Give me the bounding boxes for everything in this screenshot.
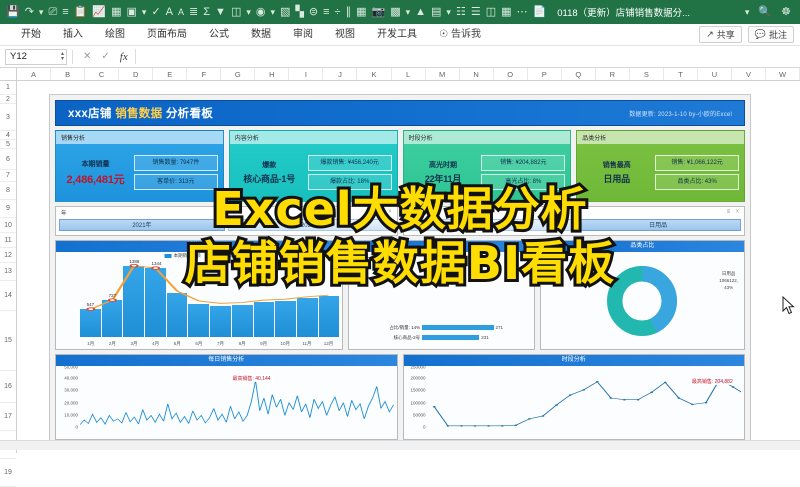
dashboard-title-bar: xxx店铺 销售数据 分析看板 数据更新: 2023-1-10 by-小欧的Ex… — [55, 100, 745, 126]
column-header-b[interactable]: B — [51, 68, 85, 80]
max-annotation: 最高销售: 40,144 — [230, 375, 272, 382]
y-axis: 0 10,000 20,000 30,000 40,000 50,000 — [56, 366, 80, 427]
filter-icon[interactable]: ▼ — [215, 7, 226, 18]
column-header-i[interactable]: I — [289, 68, 323, 80]
kpi-detail-2: 客单价: 313元 — [134, 174, 218, 190]
x-label: 10月 — [274, 338, 296, 349]
freeze-icon[interactable]: ∥ — [346, 7, 352, 18]
column-header-c[interactable]: C — [85, 68, 119, 80]
select-all-corner[interactable] — [0, 68, 17, 80]
row-header-3[interactable]: 3 — [0, 104, 16, 131]
rank-list: 占比/销量: 14% 271 核心商品-2号 231 — [352, 255, 531, 346]
plot-area: 547 727 1388 1344 — [80, 255, 339, 337]
sales-trend-chart[interactable]: 本期销售金额 去年同期 — [56, 252, 342, 349]
dropdown-icon[interactable]: ▾ — [745, 8, 750, 17]
sheet-canvas[interactable]: xxx店铺 销售数据 分析看板 数据更新: 2023-1-10 by-小欧的Ex… — [17, 81, 800, 453]
panel-title: 商品分析 — [349, 241, 534, 252]
cell-style-icon[interactable]: ▩ — [390, 7, 400, 18]
kpi-label: 高光时期 — [429, 160, 457, 170]
category-share-chart[interactable]: 日用品 1066122, 43% — [541, 252, 744, 349]
text-box-icon[interactable]: ▤ — [431, 7, 441, 18]
ribbon-tab-page-layout[interactable]: 页面布局 — [136, 24, 198, 46]
share-label: 共享 — [717, 28, 735, 41]
slicer-items: 2021年 2022年 — [59, 219, 394, 231]
format-painter-icon[interactable]: ✓ — [151, 7, 160, 18]
chart-icon[interactable]: 📈 — [92, 7, 106, 18]
kpi-detail-2: 爆款占比: 18% — [308, 174, 392, 190]
insert-chart-icon[interactable]: ▧ — [280, 7, 290, 18]
share-button[interactable]: ↗ 共享 — [699, 26, 742, 43]
panel-title: 时段分析 — [404, 355, 745, 366]
kpi-body: 本期销量 2,486,481元 销售数量: 7947件 客单价: 313元 — [56, 144, 223, 201]
y-tick: 0 — [75, 425, 78, 430]
kpi-card-category: 品类分析 销售最高 日用品 销售: ¥1,066,122元 品类占比: 43% — [576, 130, 745, 202]
column-header-g[interactable]: G — [221, 68, 255, 80]
x-axis-labels: 1月 2月 3月 4月 5月 6月 7月 8月 9月 10月 11月 12月 — [80, 338, 339, 349]
copy-icon[interactable]: 📋 — [74, 7, 88, 18]
paste-icon[interactable]: ⎚ — [48, 7, 57, 18]
slicer-controls[interactable]: ≡ ☓ — [379, 208, 393, 215]
row-header-6[interactable]: 6 — [0, 149, 16, 170]
y-tick: 40,000 — [64, 376, 78, 381]
rank-note: 占比/销量: 14% — [352, 325, 420, 331]
donut-label-value: 1066122, — [719, 278, 738, 285]
status-bar — [0, 440, 800, 450]
comment-icon: 💬 — [755, 29, 766, 40]
name-box-spinner-icon[interactable]: ▴▾ — [61, 52, 66, 62]
dashboard-title-prefix: xxx店铺 — [68, 108, 115, 120]
kpi-detail-1: 销售: ¥204,882元 — [481, 155, 565, 171]
kpi-details: 销售数量: 7947件 客单价: 313元 — [134, 147, 218, 198]
data-label: 1344 — [151, 261, 161, 266]
y-tick: 100000 — [410, 400, 425, 405]
column-header-a[interactable]: A — [17, 68, 51, 80]
column-header-l[interactable]: L — [392, 68, 426, 80]
kpi-header: 销售分析 — [56, 131, 223, 144]
rank-value: 231 — [481, 335, 489, 340]
row-header-9[interactable]: 9 — [0, 200, 16, 218]
row-header-column: 1 2 3 4 5 6 7 8 9 10 11 12 13 14 15 16 1… — [0, 81, 17, 453]
rank-row: 核心商品-2号 231 — [352, 333, 531, 342]
column-header-s[interactable]: S — [630, 68, 664, 80]
pivot-icon[interactable]: ▦ — [356, 7, 366, 18]
conditional-format-icon[interactable]: ☷ — [456, 7, 466, 18]
column-header-v[interactable]: V — [732, 68, 766, 80]
worksheet-area: 1 2 3 4 5 6 7 8 9 10 11 12 13 14 15 16 1… — [0, 81, 800, 453]
kpi-value: 22年11月 — [425, 172, 461, 185]
tell-me-label: 告诉我 — [451, 24, 481, 46]
row-header-12[interactable]: 12 — [0, 248, 16, 263]
list-icon[interactable]: ☰ — [471, 7, 481, 18]
row-header-11[interactable]: 11 — [0, 233, 16, 248]
legend-item-current: 本期销售金额 — [165, 253, 201, 259]
undo-icon[interactable]: ↷ — [25, 7, 34, 18]
ribbon-tab-review[interactable]: 审阅 — [282, 24, 324, 46]
y-tick: 50000 — [413, 412, 426, 417]
row-header-16[interactable]: 16 — [0, 371, 16, 403]
column-header-d[interactable]: D — [119, 68, 153, 80]
excel-title-bar: 💾 ↷ ▾ ⎚ ≡ 📋 📈 ▦ ▣ ▾ ✓ A A ≣ Σ ▼ ◫ ▾ ◉ ▾ … — [0, 0, 800, 24]
y-tick: 0 — [423, 425, 426, 430]
collaborate-icon[interactable]: ☸ — [781, 7, 791, 18]
slicer-item-2021[interactable]: 2021年 — [59, 219, 225, 231]
x-label: 4月 — [145, 338, 167, 349]
cancel-formula-icon[interactable]: ✕ — [78, 51, 96, 62]
row-header-14[interactable]: 14 — [0, 281, 16, 311]
border-dropdown-icon[interactable]: ▾ — [142, 8, 147, 17]
panel-daily-sales: 每日销售分析 0 10,000 20,000 30,000 40,000 50,… — [55, 354, 398, 440]
multi-select-icon[interactable]: ≡ — [727, 209, 733, 215]
row-header-2[interactable]: 2 — [0, 95, 16, 104]
x-label: 8月 — [231, 338, 253, 349]
kpi-value: 日用品 — [604, 172, 630, 185]
row-header-5[interactable]: 5 — [0, 140, 16, 149]
column-header-f[interactable]: F — [187, 68, 221, 80]
column-header-u[interactable]: U — [698, 68, 732, 80]
product-rank-chart[interactable]: 占比/销量: 14% 271 核心商品-2号 231 — [349, 252, 534, 349]
rank-name: 核心商品-2号 — [352, 335, 420, 341]
kpi-body: 爆款 核心商品-1号 爆款销售: ¥456,240元 爆款占比: 18% — [230, 144, 397, 201]
legend-item-previous: 去年同期 — [207, 253, 234, 259]
column-header-r[interactable]: R — [596, 68, 630, 80]
row-header-19[interactable]: 19 — [0, 459, 16, 487]
row-header-10[interactable]: 10 — [0, 218, 16, 233]
ribbon-tab-data[interactable]: 数据 — [240, 24, 282, 46]
kpi-value: 2,486,481元 — [67, 171, 125, 187]
row-header-17[interactable]: 17 — [0, 403, 16, 431]
row-header-15[interactable]: 15 — [0, 311, 16, 371]
dashboard-meta: 数据更新: 2023-1-10 by-小欧的Excel — [629, 109, 732, 118]
search-icon[interactable]: 🔍 — [758, 7, 772, 18]
slicer-row: 年 ≡ ☓ 2021年 2022年 品类 ≡ ☓ — [55, 206, 745, 236]
x-label: 6月 — [188, 338, 210, 349]
row-height-icon[interactable]: ≡ — [323, 7, 329, 18]
comparison-line — [80, 255, 339, 337]
column-chart-icon[interactable]: ▚ — [295, 7, 303, 18]
data-label: 1388 — [129, 259, 139, 264]
kpi-label: 销售最高 — [603, 160, 631, 170]
y-tick: 20,000 — [64, 400, 78, 405]
kpi-header: 时段分析 — [404, 131, 571, 144]
fill-color-icon[interactable]: ◉ — [256, 7, 266, 18]
lightbulb-icon: ☉ — [439, 24, 448, 46]
row-header-13[interactable]: 13 — [0, 263, 16, 281]
y-axis — [56, 252, 80, 337]
kpi-detail-1: 销售数量: 7947件 — [134, 155, 218, 171]
y-tick: 30,000 — [64, 388, 78, 393]
table-icon[interactable]: ▦ — [111, 7, 121, 18]
kpi-body: 高光时期 22年11月 销售: ¥204,882元 高光占比: 8% — [404, 144, 571, 201]
donut-chart — [541, 252, 744, 349]
name-box[interactable]: Y12 ▴▾ — [5, 49, 67, 65]
align-icon[interactable]: ≣ — [189, 7, 198, 18]
kpi-body: 销售最高 日用品 销售: ¥1,066,122元 品类占比: 43% — [577, 144, 744, 201]
multi-select-icon[interactable]: ≡ — [379, 209, 385, 215]
slicer-item-2022[interactable]: 2022年 — [228, 219, 394, 231]
view-icon[interactable]: ◫ — [486, 7, 496, 18]
clear-filter-icon[interactable]: ☓ — [736, 209, 741, 215]
kpi-header: 品类分析 — [577, 131, 744, 144]
formula-bar: Y12 ▴▾ ✕ ✓ fx — [0, 46, 800, 68]
rank-note-row: 占比/销量: 14% 271 — [352, 323, 531, 332]
share-icon: ↗ — [706, 29, 714, 40]
column-header-k[interactable]: K — [357, 68, 391, 80]
panel-sales-trend: 销售分析 本期销售金额 去年同期 — [55, 240, 343, 350]
legend-swatch — [165, 254, 172, 258]
slicer-controls[interactable]: ≡ ☓ — [727, 208, 741, 215]
slicer-category[interactable]: 品类 ≡ ☓ 食品 日用品 — [403, 206, 746, 236]
legend-swatch — [207, 255, 214, 257]
panel-title: 每日销售分析 — [56, 355, 397, 366]
kpi-detail-1: 爆款销售: ¥456,240元 — [308, 155, 392, 171]
panel-title: 销售分析 — [56, 241, 342, 252]
indent-icon[interactable]: ≡ — [62, 7, 68, 18]
kpi-card-sales: 销售分析 本期销量 2,486,481元 销售数量: 7947件 客单价: 31… — [55, 130, 224, 202]
x-label: 7月 — [210, 338, 232, 349]
column-header-e[interactable]: E — [153, 68, 187, 80]
rank-value: 271 — [496, 325, 504, 330]
grid-icon[interactable]: ▦ — [501, 7, 511, 18]
document-title: 0118（更新）店铺销售数据分... — [557, 5, 690, 19]
x-label: 5月 — [166, 338, 188, 349]
undo-dropdown-icon[interactable]: ▾ — [39, 8, 44, 17]
confirm-formula-icon[interactable]: ✓ — [96, 51, 114, 62]
border-icon[interactable]: ▣ — [127, 7, 137, 18]
more-commands-icon[interactable]: ⋯ — [517, 7, 528, 18]
x-label: 9月 — [253, 338, 275, 349]
panel-product-rank: 商品分析 占比/销量: 14% 271 核心商品-2号 231 — [348, 240, 535, 350]
style-dropdown-icon[interactable]: ▾ — [406, 8, 411, 17]
panel-category-share: 品类占比 日用品 1066122, 43% — [540, 240, 745, 350]
column-header-o[interactable]: O — [494, 68, 528, 80]
kpi-card-content: 内容分析 爆款 核心商品-1号 爆款销售: ¥456,240元 爆款占比: 18… — [229, 130, 398, 202]
kpi-label: 本期销量 — [81, 159, 109, 169]
x-label: 1月 — [80, 338, 102, 349]
y-tick: 200000 — [410, 376, 425, 381]
panel-time-period: 时段分析 0 50000 100000 150000 200000 250000 — [403, 354, 746, 440]
legend-label: 去年同期 — [216, 253, 234, 259]
kpi-card-time: 时段分析 高光时期 22年11月 销售: ¥204,882元 高光占比: 8% — [403, 130, 572, 202]
column-header-t[interactable]: T — [664, 68, 698, 80]
kpi-detail-2: 高光占比: 8% — [481, 174, 565, 190]
panel-title: 品类占比 — [541, 241, 744, 252]
dashboard-title-suffix: 分析看板 — [162, 108, 213, 120]
fill-dropdown-icon[interactable]: ▾ — [270, 8, 275, 17]
x-label: 12月 — [318, 338, 340, 349]
daily-sales-chart[interactable]: 0 10,000 20,000 30,000 40,000 50,000 最高销… — [56, 366, 397, 439]
kpi-details: 销售: ¥204,882元 高光占比: 8% — [481, 147, 565, 198]
y-tick: 150000 — [410, 388, 425, 393]
x-label: 2月 — [102, 338, 124, 349]
bottom-chart-row: 每日销售分析 0 10,000 20,000 30,000 40,000 50,… — [55, 354, 745, 440]
save-icon[interactable]: 💾 — [6, 7, 20, 18]
formula-input[interactable] — [135, 49, 800, 64]
column-header-n[interactable]: N — [460, 68, 494, 80]
ribbon-tab-home[interactable]: 开始 — [10, 24, 52, 46]
kpi-details: 爆款销售: ¥456,240元 爆款占比: 18% — [308, 147, 392, 198]
donut-svg — [606, 265, 678, 337]
comment-label: 批注 — [769, 28, 787, 41]
kpi-details: 销售: ¥1,066,122元 品类占比: 43% — [655, 147, 739, 198]
kpi-detail-1: 销售: ¥1,066,122元 — [655, 155, 739, 171]
slicer-item-food[interactable]: 食品 — [407, 219, 573, 231]
picture-icon[interactable]: 📷 — [371, 7, 385, 18]
row-header-1[interactable]: 1 — [0, 81, 16, 95]
ribbon-tab-bar: 开始 插入 绘图 页面布局 公式 数据 审阅 视图 开发工具 ☉ 告诉我 ↗ 共… — [0, 24, 800, 46]
legend-label: 本期销售金额 — [174, 253, 201, 259]
merge-icon[interactable]: ⊜ — [309, 7, 318, 18]
row-header-8[interactable]: 8 — [0, 182, 16, 200]
kpi-primary: 高光时期 22年11月 — [409, 147, 478, 198]
dashboard-container: xxx店铺 销售数据 分析看板 数据更新: 2023-1-10 by-小欧的Ex… — [49, 94, 751, 446]
y-tick: 250000 — [410, 366, 425, 370]
dashboard-title-highlight: 销售数据 — [115, 108, 162, 120]
sort-icon[interactable]: ◫ — [231, 7, 241, 18]
slicer-title: 年 — [59, 209, 394, 217]
kpi-detail-2: 品类占比: 43% — [655, 174, 739, 190]
split-icon[interactable]: ÷ — [335, 7, 341, 18]
chart-legend: 本期销售金额 去年同期 — [165, 253, 234, 259]
y-axis: 0 50000 100000 150000 200000 250000 — [404, 366, 428, 427]
x-label: 3月 — [123, 338, 145, 349]
column-header-j[interactable]: J — [323, 68, 357, 80]
document-icon: 📄 — [533, 7, 547, 18]
plot-area: 最高销售: 204,882 — [428, 369, 742, 427]
kpi-primary: 销售最高 日用品 — [582, 147, 651, 198]
kpi-value: 核心商品-1号 — [243, 172, 295, 185]
plot-area: 最高销售: 40,144 — [80, 369, 394, 427]
clear-filter-icon[interactable]: ☓ — [388, 209, 393, 215]
data-label: 727 — [109, 293, 117, 298]
middle-chart-row: 销售分析 本期销售金额 去年同期 — [55, 240, 745, 350]
name-box-value: Y12 — [10, 51, 27, 62]
ribbon-right-actions: ↗ 共享 💬 批注 — [699, 26, 800, 43]
max-annotation: 最高销售: 204,882 — [690, 378, 735, 385]
column-header-p[interactable]: P — [528, 68, 562, 80]
ribbon-tab-draw[interactable]: 绘图 — [94, 24, 136, 46]
kpi-primary: 本期销量 2,486,481元 — [61, 147, 130, 198]
textbox-dropdown-icon[interactable]: ▾ — [446, 8, 451, 17]
autosum-icon[interactable]: Σ — [203, 7, 210, 18]
ribbon-tab-insert[interactable]: 插入 — [52, 24, 94, 46]
kpi-card-row: 销售分析 本期销量 2,486,481元 销售数量: 7947件 客单价: 31… — [55, 130, 745, 202]
row-header-4[interactable]: 4 — [0, 131, 16, 140]
donut-label-category: 日用品 — [719, 271, 738, 278]
donut-label-percent: 43% — [719, 285, 738, 292]
insert-function-icon[interactable]: fx — [115, 51, 133, 63]
column-header-h[interactable]: H — [255, 68, 289, 80]
divider — [72, 50, 73, 64]
kpi-header: 内容分析 — [230, 131, 397, 144]
column-header-m[interactable]: M — [426, 68, 460, 80]
dashboard-title: xxx店铺 销售数据 分析看板 — [68, 105, 213, 121]
y-tick: 10,000 — [64, 412, 78, 417]
increase-font-icon[interactable]: A — [166, 7, 173, 18]
column-header-w[interactable]: W — [766, 68, 800, 80]
kpi-primary: 爆款 核心商品-1号 — [235, 147, 304, 198]
donut-data-label: 日用品 1066122, 43% — [719, 271, 738, 291]
slicer-items: 食品 日用品 — [407, 219, 742, 231]
sort-dropdown-icon[interactable]: ▾ — [246, 8, 251, 17]
ribbon-tab-formulas[interactable]: 公式 — [198, 24, 240, 46]
time-period-chart[interactable]: 0 50000 100000 150000 200000 250000 — [404, 366, 745, 439]
mouse-cursor — [782, 296, 796, 316]
ribbon-tab-developer[interactable]: 开发工具 — [366, 24, 428, 46]
title-bar-actions: ▾ 🔍 ☸ — [745, 7, 794, 18]
tell-me-box[interactable]: ☉ 告诉我 — [428, 24, 492, 46]
row-header-7[interactable]: 7 — [0, 170, 16, 182]
shape-icon[interactable]: ▲ — [415, 7, 426, 18]
decrease-font-icon[interactable]: A — [178, 8, 184, 17]
x-label: 11月 — [296, 338, 318, 349]
ribbon-tab-view[interactable]: 视图 — [324, 24, 366, 46]
slicer-item-daily[interactable]: 日用品 — [575, 219, 741, 231]
column-header-row: A B C D E F G H I J K L M N O P Q R S T … — [0, 68, 800, 81]
column-header-q[interactable]: Q — [562, 68, 596, 80]
comment-button[interactable]: 💬 批注 — [748, 26, 794, 43]
slicer-title: 品类 — [407, 209, 742, 217]
y-tick: 50,000 — [64, 366, 78, 370]
data-label: 547 — [87, 302, 95, 307]
kpi-label: 爆款 — [262, 160, 276, 170]
slicer-year[interactable]: 年 ≡ ☓ 2021年 2022年 — [55, 206, 398, 236]
